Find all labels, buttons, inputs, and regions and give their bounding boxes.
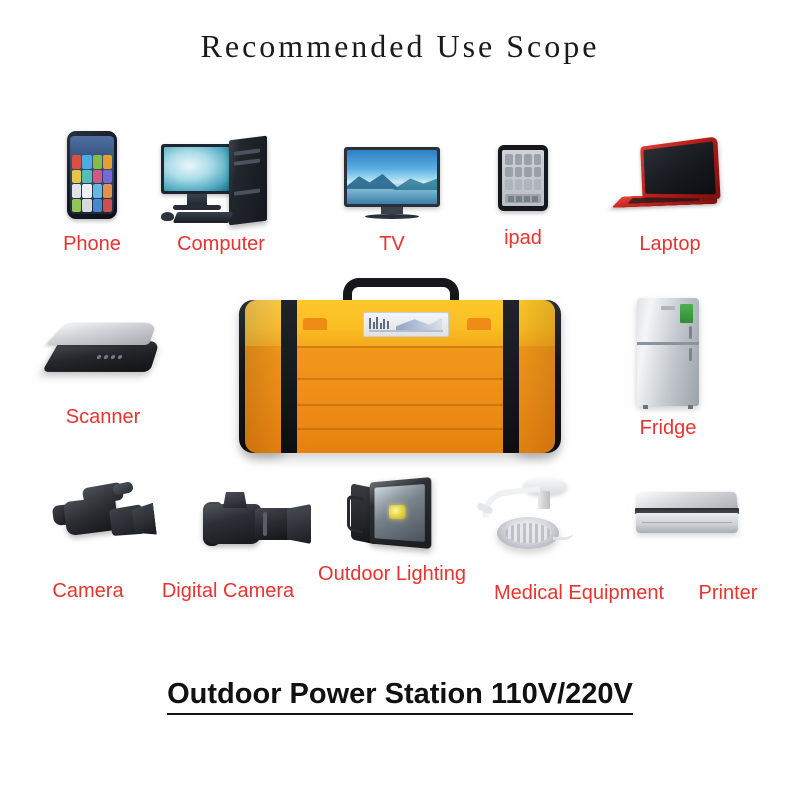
tv-screen [347, 150, 437, 204]
led-chip [389, 505, 406, 519]
tablet-dock [505, 194, 541, 203]
label-medical-equipment: Medical Equipment [494, 583, 664, 603]
dslr-lens-hood [287, 504, 311, 544]
floodlight-icon [347, 480, 437, 552]
product-headline-text: Outdoor Power Station 110V/220V [167, 678, 633, 715]
product-label [363, 312, 449, 337]
tv-neck [381, 207, 403, 214]
label-printer: Printer [699, 583, 758, 603]
poster-canvas: Recommended Use Scope Phone Computer [0, 0, 800, 800]
printer-top [636, 492, 738, 509]
label-laptop: Laptop [639, 234, 700, 254]
energy-label [680, 304, 693, 323]
dslr-body [203, 504, 261, 544]
tv-foot [365, 214, 419, 219]
phone-screen [70, 136, 114, 214]
floodlight-glass [375, 484, 425, 542]
printer-base [636, 513, 738, 533]
label-tv: TV [379, 234, 405, 254]
laptop-icon [618, 142, 722, 220]
scanner-buttons [96, 355, 123, 359]
surgical-lamp-icon [475, 477, 581, 555]
monitor [161, 144, 233, 194]
page-title: Recommended Use Scope [0, 28, 800, 65]
printer-icon [635, 491, 741, 537]
television-icon [344, 147, 440, 223]
keyboard [173, 212, 233, 223]
outdoor-power-station [245, 278, 555, 453]
scanner-lid [46, 323, 157, 345]
laptop-lid [640, 136, 720, 199]
tablet-icon [498, 145, 548, 211]
label-ipad: ipad [504, 228, 542, 248]
fridge-body [637, 298, 699, 406]
camcorder-icon [53, 483, 161, 553]
label-camera: Camera [52, 581, 123, 601]
tv-body [344, 147, 440, 207]
product-headline: Outdoor Power Station 110V/220V [0, 678, 800, 711]
label-phone: Phone [63, 234, 121, 254]
latch-left [303, 318, 327, 330]
pc-tower [229, 136, 267, 226]
floodlight-bracket [347, 494, 363, 533]
latch-right [467, 318, 491, 330]
mouse [161, 212, 174, 221]
label-digital-camera: Digital Camera [162, 581, 294, 601]
floodlight-frame [370, 477, 432, 549]
tablet-screen [502, 150, 544, 206]
monitor-base [173, 205, 221, 210]
label-fridge: Fridge [640, 418, 697, 438]
label-computer: Computer [177, 234, 265, 254]
lamp-reflector [505, 523, 551, 543]
desktop-computer-icon [161, 138, 281, 233]
lamp-head [497, 517, 559, 549]
label-outdoor-lighting: Outdoor Lighting [318, 564, 466, 584]
dslr-camera-icon [203, 492, 313, 554]
lamp-cord [553, 527, 573, 540]
phone-icon [67, 131, 117, 219]
label-scanner: Scanner [66, 407, 141, 427]
refrigerator-icon [637, 298, 699, 406]
flatbed-scanner-icon [51, 315, 161, 385]
dslr-prism [223, 492, 247, 508]
